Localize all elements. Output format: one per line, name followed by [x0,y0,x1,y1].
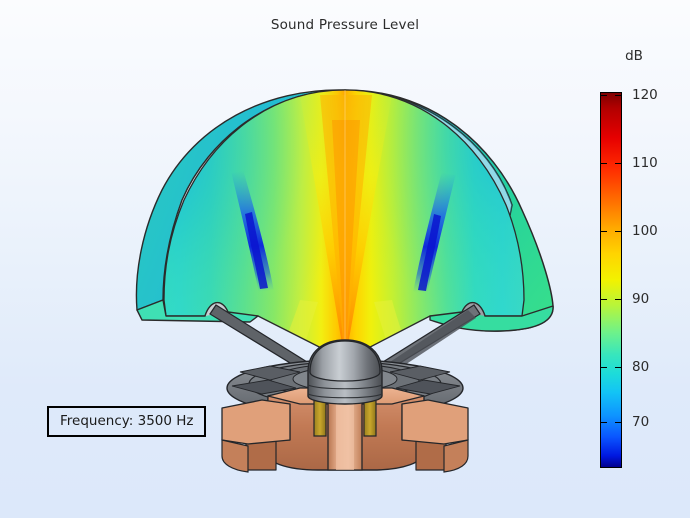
frequency-annotation[interactable]: Frequency: 3500 Hz [47,406,206,437]
colorbar-label-70: 70 [632,414,649,430]
colorbar-tick-120-right [615,95,622,96]
plot-canvas: Sound Pressure Level [0,0,690,518]
colorbar-label-120: 120 [632,87,658,103]
colorbar-label-90: 90 [632,291,649,307]
colorbar-label-80: 80 [632,359,649,375]
colorbar-label-100: 100 [632,223,658,239]
colorbar-tick-110 [600,163,607,164]
colorbar-tick-100 [600,231,607,232]
colorbar-tick-90-right [615,299,622,300]
colorbar-tick-70 [600,422,607,423]
colorbar-tick-70-right [615,422,622,423]
colorbar-tick-80-right [615,367,622,368]
colorbar-tick-80 [600,367,607,368]
colorbar-label-110: 110 [632,155,658,171]
colorbar[interactable] [600,92,622,468]
speaker-dust-cap [308,340,382,404]
colorbar-tick-110-right [615,163,622,164]
colorbar-tick-100-right [615,231,622,232]
colorbar-tick-120 [600,95,607,96]
colorbar-gradient [600,92,622,468]
acoustic-3d-scene[interactable] [0,0,690,518]
pressure-cut-plane [120,80,530,380]
colorbar-unit-label: dB [604,48,664,64]
colorbar-tick-90 [600,299,607,300]
